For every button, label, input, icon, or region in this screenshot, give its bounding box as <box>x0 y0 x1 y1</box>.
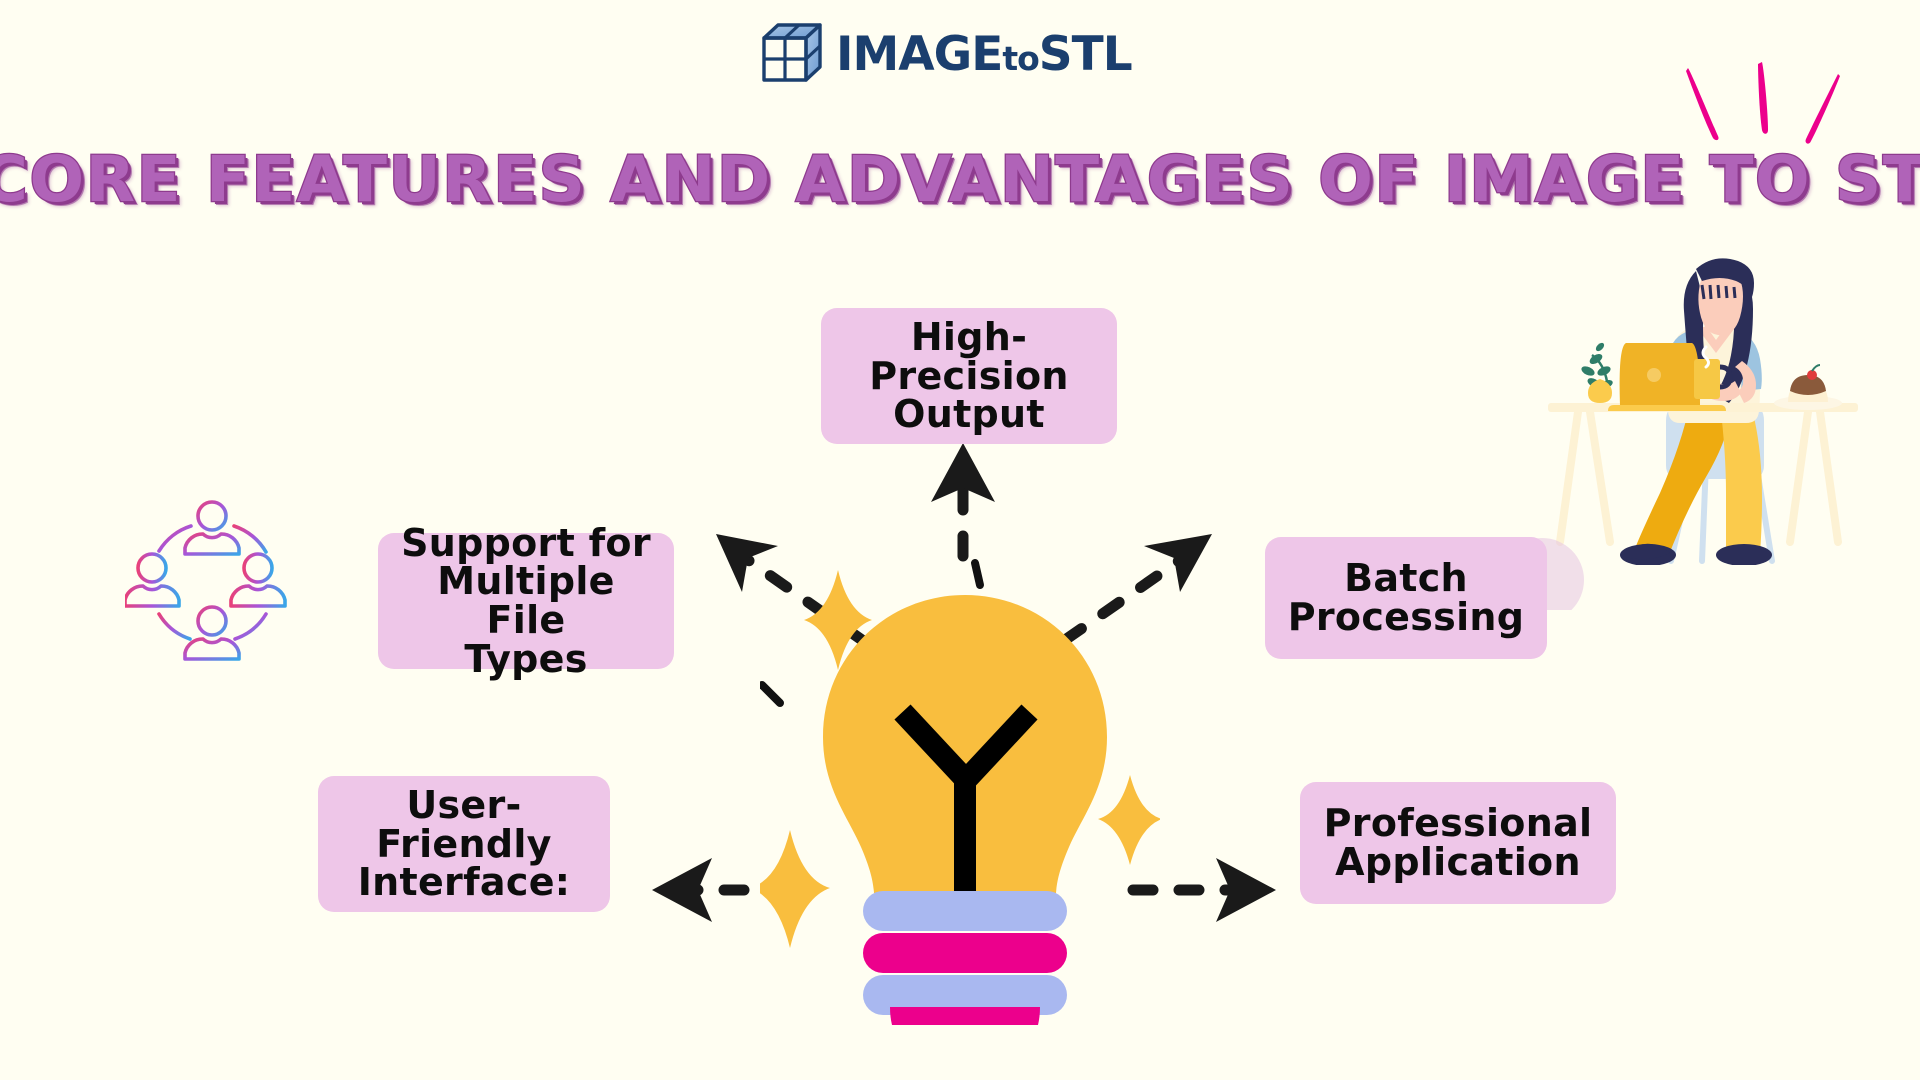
cake-plate <box>1774 365 1842 410</box>
logo-wordmark: IMAGEtoSTL <box>836 31 1132 78</box>
feature-box-high-precision-output[interactable]: High- Precision Output <box>821 308 1117 444</box>
feature-box-batch-processing[interactable]: Batch Processing <box>1265 537 1547 659</box>
sparkle-right <box>1098 775 1160 865</box>
pink-burst-rays <box>1680 60 1870 190</box>
tick-top <box>975 563 980 585</box>
bulb-base-cap <box>890 1007 1040 1025</box>
brand-logo[interactable]: IMAGEtoSTL <box>760 22 1132 86</box>
feature-label-support-multiple-file-types: Support for Multiple File Types <box>392 524 660 679</box>
sparkle-bottom-left <box>760 830 830 948</box>
potted-plant <box>1580 341 1614 403</box>
feature-label-user-friendly-interface: User- Friendly Interface: <box>358 786 571 902</box>
logo-text-image: IMAGE <box>836 27 1002 82</box>
page-title: CORE FEATURES AND ADVANTAGES OF IMAGE TO… <box>0 148 1920 211</box>
feature-label-high-precision-output: High- Precision Output <box>869 318 1068 434</box>
bulb-band-magenta <box>863 933 1067 973</box>
cube-wireframe-icon <box>760 22 824 86</box>
logo-text-to: to <box>1002 39 1038 78</box>
lightbulb-idea-illustration <box>760 555 1160 1025</box>
arrow-head-right <box>1216 858 1276 922</box>
logo-text-stl: STL <box>1039 27 1132 82</box>
feature-box-user-friendly-interface[interactable]: User- Friendly Interface: <box>318 776 610 912</box>
feature-box-support-multiple-file-types[interactable]: Support for Multiple File Types <box>378 533 674 669</box>
woman-working-at-desk-illustration <box>1530 255 1875 565</box>
people-network-icon <box>125 495 300 670</box>
tick-left <box>762 685 780 703</box>
shoes <box>1620 544 1772 565</box>
feature-label-professional-application: Professional Application <box>1324 804 1593 882</box>
infographic-canvas: IMAGEtoSTL CORE FEATURES AND ADVANTAGES … <box>0 0 1920 1080</box>
bulb-band-blue-1 <box>863 891 1067 931</box>
arrow-head-left <box>652 858 712 922</box>
feature-label-batch-processing: Batch Processing <box>1288 559 1525 637</box>
feature-box-professional-application[interactable]: Professional Application <box>1300 782 1616 904</box>
arrow-head-up <box>931 443 995 502</box>
